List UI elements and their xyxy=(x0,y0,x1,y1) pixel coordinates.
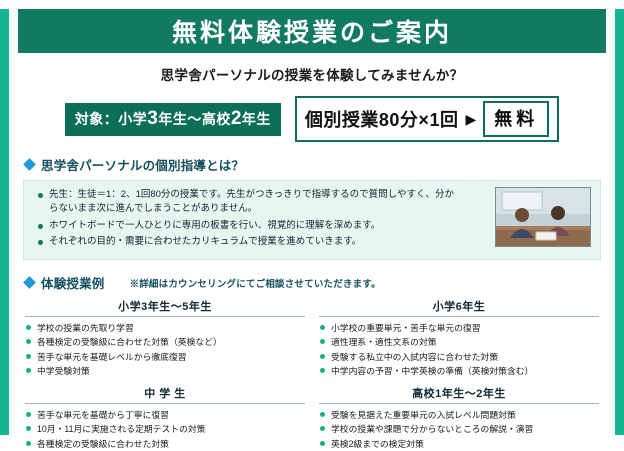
list-item: 先生：生徒＝1：2、1回80分の授業です。先生がつきっきりで指導するので質問しや… xyxy=(36,188,456,217)
about-panel: 先生：生徒＝1：2、1回80分の授業です。先生がつきっきりで指導するので質問しや… xyxy=(23,180,601,260)
example-cell-elementary-3-5: 小学3年生～5年生 学校の授業の先取り学習 各種検定の受験級に合わせた対策（英検… xyxy=(25,298,305,378)
cell-list: 学校の授業の先取り学習 各種検定の受験級に合わせた対策（英検など） 苦手な単元を… xyxy=(25,321,305,378)
target-suffix: 年生 xyxy=(242,111,271,127)
list-item: 受験する私立中の入試内容に合わせた対策 xyxy=(319,350,599,364)
photo-illustration-icon xyxy=(496,188,591,247)
page-title: 無料体験授業のご案内 xyxy=(172,13,452,49)
list-item: 10月・11月に実施される定期テストの対策 xyxy=(25,422,305,436)
section2-note: ※詳細はカウンセリングにてご相談させていただきます。 xyxy=(130,276,381,290)
target-badge: 対象：小学3年生～高校2年生 xyxy=(65,103,281,136)
list-item: 学校の授業の先取り学習 xyxy=(25,321,305,335)
example-cell-elementary-6: 小学6年生 小学校の重要単元・苦手な単元の復習 適性理系・適性文系の対策 受験す… xyxy=(319,298,599,378)
lesson-info-box: 個別授業80分×1回 ▶ 無料 xyxy=(295,96,559,142)
section1-heading-label: 思学舎パーソナルの個別指導とは？ xyxy=(41,155,244,174)
section2-heading-label: 体験授業例 xyxy=(41,273,105,292)
list-item: 苦手な単元を基礎から丁寧に復習 xyxy=(25,408,305,422)
list-item: 英検2級までの検定対策 xyxy=(319,437,599,451)
list-item: 学校の授業や課題で分からないところの解説・演習 xyxy=(319,422,599,436)
list-item: 中学内容の予習・中学英検の準備（英検対策含む） xyxy=(319,364,599,378)
list-item: 各種検定の受験級に合わせた対策（英検など） xyxy=(25,335,305,349)
free-badge: 無料 xyxy=(483,101,549,137)
list-item: ホワイトボードで一人ひとりに専用の板書を行い、視覚的に理解を深めます。 xyxy=(36,219,456,233)
cell-title: 小学6年生 xyxy=(319,298,599,317)
example-cell-high-school-1-2: 高校1年生～2年生 受験を見据えた重要単元の入試レベル問題対策 学校の授業や課題… xyxy=(319,385,599,451)
target-prefix: 対象：小学 xyxy=(75,111,148,127)
arrow-right-icon: ▶ xyxy=(465,112,476,126)
classroom-photo xyxy=(495,187,591,247)
cell-title: 高校1年生～2年生 xyxy=(319,385,599,404)
list-item: 小学校の重要単元・苦手な単元の復習 xyxy=(319,321,599,335)
target-grade-low: 3 xyxy=(147,108,158,129)
list-item: 各種検定の受験級に合わせた対策 xyxy=(25,437,305,451)
list-item: 中学受験対策 xyxy=(25,364,305,378)
list-item: 受験を見据えた重要単元の入試レベル問題対策 xyxy=(319,408,599,422)
flyer-page: 無料体験授業のご案内 思学舎パーソナルの授業を体験してみませんか？ 対象：小学3… xyxy=(0,9,624,435)
cell-list: 小学校の重要単元・苦手な単元の復習 適性理系・適性文系の対策 受験する私立中の入… xyxy=(319,321,599,378)
section-heading-examples: 体験授業例 ※詳細はカウンセリングにてご相談させていただきます。 xyxy=(25,273,615,292)
cell-title: 小学3年生～5年生 xyxy=(25,298,305,317)
section-heading-about: 思学舎パーソナルの個別指導とは？ xyxy=(25,155,615,174)
lesson-label: 個別授業80分×1回 xyxy=(305,106,459,132)
list-item: 適性理系・適性文系の対策 xyxy=(319,335,599,349)
subtitle-text: 思学舎パーソナルの授業を体験してみませんか？ xyxy=(9,64,615,84)
diamond-bullet-icon xyxy=(23,276,36,289)
list-item: 苦手な単元を基礎レベルから徹底復習 xyxy=(25,350,305,364)
cell-list: 受験を見据えた重要単元の入試レベル問題対策 学校の授業や課題で分からないところの… xyxy=(319,408,599,451)
examples-grid: 小学3年生～5年生 学校の授業の先取り学習 各種検定の受験級に合わせた対策（英検… xyxy=(25,298,599,451)
target-grade-high: 2 xyxy=(231,108,242,129)
list-item: それぞれの目的・需要に合わせたカリキュラムで授業を進めていきます。 xyxy=(36,235,456,249)
header-banner: 無料体験授業のご案内 xyxy=(18,9,606,53)
example-cell-junior-high: 中 学 生 苦手な単元を基礎から丁寧に復習 10月・11月に実施される定期テスト… xyxy=(25,385,305,451)
target-mid: 年生～高校 xyxy=(158,111,231,127)
diamond-bullet-icon xyxy=(23,158,36,171)
cell-title: 中 学 生 xyxy=(25,385,305,404)
target-row: 対象：小学3年生～高校2年生 個別授業80分×1回 ▶ 無料 xyxy=(9,96,615,142)
cell-list: 苦手な単元を基礎から丁寧に復習 10月・11月に実施される定期テストの対策 各種… xyxy=(25,408,305,451)
